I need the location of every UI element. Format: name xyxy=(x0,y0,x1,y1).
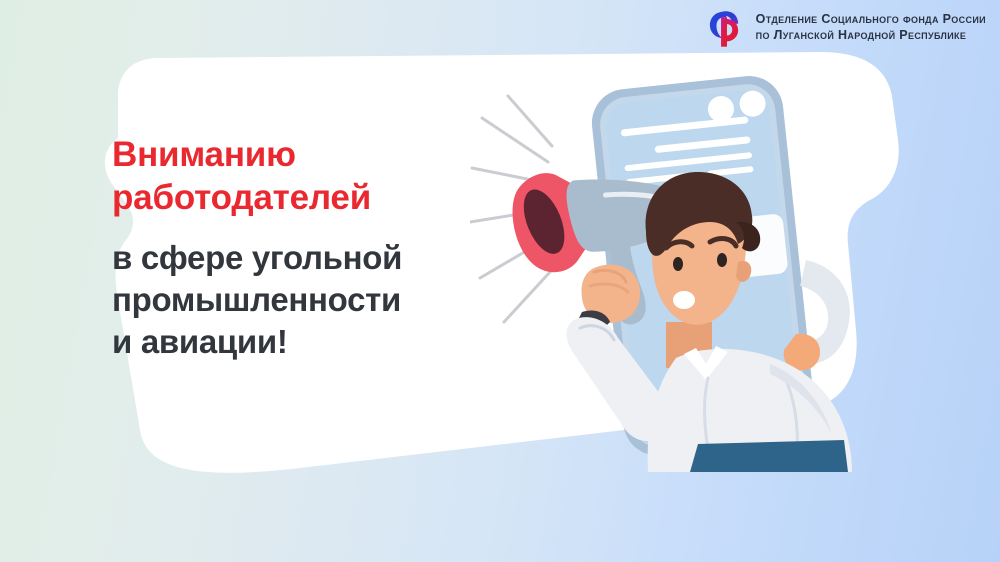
page-title: Вниманию работодателей xyxy=(112,134,512,219)
text-block: Вниманию работодателей в сфере угольной … xyxy=(112,134,512,362)
subhead-line-2: промышленности xyxy=(112,279,512,321)
person-torso xyxy=(648,346,852,472)
page-subtitle: в сфере угольной промышленности и авиаци… xyxy=(112,237,512,362)
banner-root: Отделение Социального фонда России по Лу… xyxy=(0,0,1000,562)
sfr-logo-icon xyxy=(704,6,746,48)
person-eye-right xyxy=(717,253,727,267)
subhead-line-3: и авиации! xyxy=(112,321,512,363)
subhead-line-1: в сфере угольной xyxy=(112,237,512,279)
headline-line-2: работодателей xyxy=(112,177,512,220)
person-jeans xyxy=(690,440,848,472)
headline-line-1: Вниманию xyxy=(112,134,512,177)
header-line-2: по Луганской Народной Республике xyxy=(756,28,986,43)
header-line-1: Отделение Социального фонда России xyxy=(756,12,986,27)
man-with-megaphone-illustration xyxy=(470,72,900,472)
header: Отделение Социального фонда России по Лу… xyxy=(704,6,986,48)
person-eye-left xyxy=(673,257,683,271)
header-text: Отделение Социального фонда России по Лу… xyxy=(756,12,986,43)
person-mouth xyxy=(673,291,695,309)
